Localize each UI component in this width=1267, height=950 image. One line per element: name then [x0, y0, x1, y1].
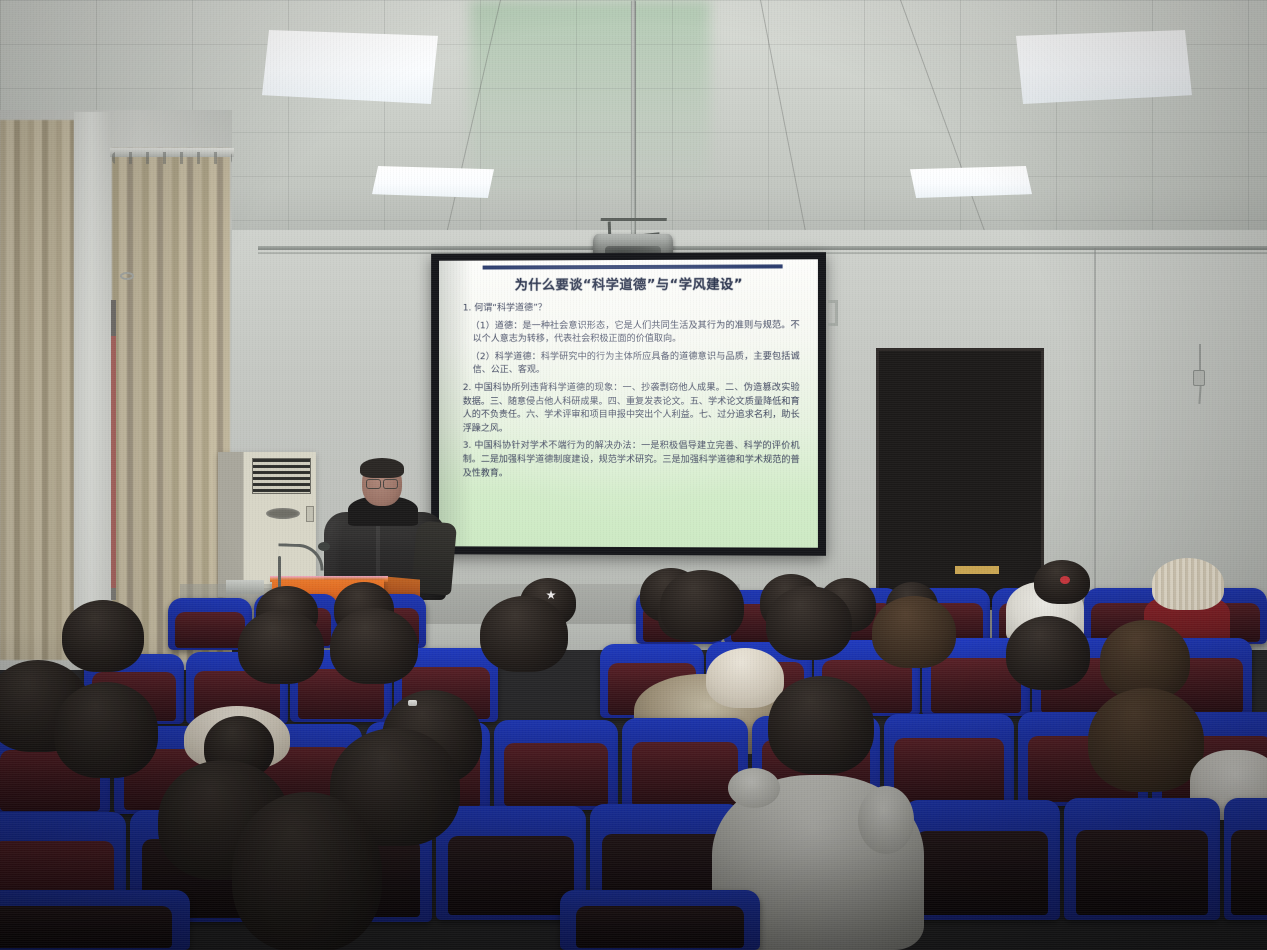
- seat[interactable]: [904, 800, 1060, 920]
- seat[interactable]: [1064, 798, 1220, 920]
- presenter-hair: [360, 458, 404, 478]
- air-conditioner-badge: [266, 508, 300, 519]
- audience-head: [62, 600, 144, 672]
- air-conditioner-grille: [252, 458, 311, 494]
- audience-head: [54, 682, 158, 778]
- red-pole: [111, 300, 116, 600]
- wall-conduit: [258, 246, 1267, 250]
- seat[interactable]: [494, 720, 618, 810]
- audience-head: [660, 570, 744, 642]
- slide-line: （1）道德：是一种社会意识形态，它是人们共同生活及其行为的准则与规范。不以个人意…: [459, 319, 800, 347]
- glasses-icon: [366, 479, 398, 487]
- slide-line: 3. 中国科协针对学术不端行为的解决办法：一是积极倡导建立完善、科学的评价机制。…: [459, 440, 800, 481]
- projection-screen-surface: 为什么要谈“科学道德”与“学风建设” 1. 何谓“科学道德”？ （1）道德：是一…: [439, 259, 818, 547]
- audience-head: [766, 586, 852, 660]
- seat[interactable]: [1224, 798, 1267, 920]
- ceiling-light-panel: [372, 166, 494, 198]
- fleece-hood-ear: [728, 768, 780, 808]
- slide-content: 为什么要谈“科学道德”与“学风建设” 1. 何谓“科学道德”？ （1）道德：是一…: [439, 259, 818, 547]
- fleece-hood-ear: [858, 786, 914, 854]
- ceiling-light-panel: [910, 166, 1032, 198]
- wall-wire: [1199, 344, 1201, 372]
- air-conditioner-control-panel[interactable]: [306, 506, 314, 522]
- slide-line: 2. 中国科协所列违背科学道德的现象：一、抄袭剽窃他人成果。二、伪造篡改实验数据…: [459, 382, 800, 437]
- audience-head: [238, 610, 324, 684]
- red-hairtie-icon: [1060, 576, 1070, 584]
- screen-mount-bracket: [828, 300, 838, 326]
- microphone-icon: [318, 542, 330, 551]
- audience-head: [330, 608, 418, 684]
- audience-head: [480, 596, 568, 672]
- lecture-hall-scene: 为什么要谈“科学道德”与“学风建设” 1. 何谓“科学道德”？ （1）道德：是一…: [0, 0, 1267, 950]
- wall-outlet-plate: [1193, 370, 1205, 386]
- audience-cream-beanie: [1152, 558, 1224, 610]
- wall-hook-icon: [120, 272, 134, 280]
- projection-screen: 为什么要谈“科学道德”与“学风建设” 1. 何谓“科学道德”？ （1）道德：是一…: [431, 252, 826, 556]
- audience-seating: [0, 560, 1267, 950]
- projector-mount-pole: [631, 0, 636, 238]
- slide-line: 1. 何谓“科学道德”？: [459, 302, 800, 316]
- curtain-rings: [112, 152, 232, 164]
- slide-title: 为什么要谈“科学道德”与“学风建设”: [459, 273, 800, 293]
- audience-head: [1088, 688, 1204, 792]
- audience-head: [1006, 616, 1090, 690]
- seat[interactable]: [622, 718, 748, 810]
- hairclip-icon: [408, 700, 417, 706]
- audience-head: [232, 792, 382, 950]
- ceiling-light-panel: [1016, 30, 1192, 104]
- ceiling-light-panel: [262, 30, 438, 104]
- slide-line: （2）科学道德：科学研究中的行为主体所应具备的道德意识与品质，主要包括诚信、公正…: [459, 351, 800, 379]
- audience-head: [872, 596, 956, 668]
- seat[interactable]: [560, 890, 760, 950]
- seat[interactable]: [0, 890, 190, 950]
- audience-head: [768, 676, 874, 774]
- audience-white-hat: [706, 648, 784, 708]
